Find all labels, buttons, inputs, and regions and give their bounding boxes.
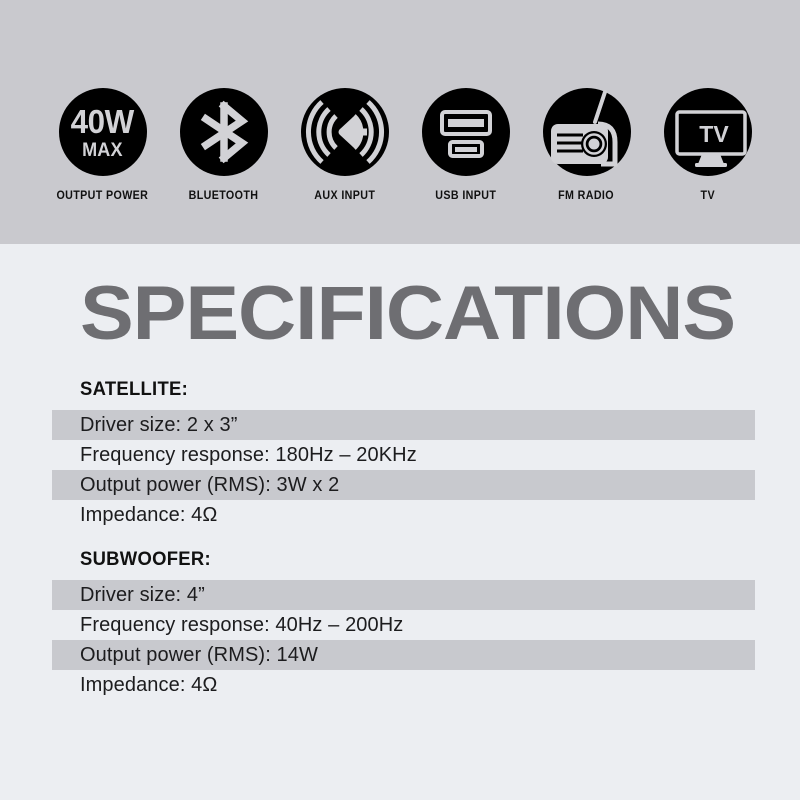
output-power-value: 40W bbox=[71, 105, 134, 138]
spec-row: Impedance: 4Ω bbox=[52, 500, 755, 530]
page-title: SPECIFICATIONS bbox=[80, 276, 735, 352]
feature-item-output-power[interactable]: 40W MAX OUTPUT POWER bbox=[42, 0, 163, 202]
feature-label-aux-input: AUX INPUT bbox=[314, 190, 375, 202]
feature-label-output-power: OUTPUT POWER bbox=[57, 190, 149, 202]
output-power-icon: 40W MAX bbox=[59, 88, 147, 176]
spec-row: Output power (RMS): 14W bbox=[52, 640, 755, 670]
feature-band: 40W MAX OUTPUT POWER BLUETOOTH bbox=[0, 0, 800, 244]
output-power-max-label: MAX bbox=[82, 141, 123, 160]
spec-rows-satellite: Driver size: 2 x 3” Frequency response: … bbox=[0, 410, 800, 530]
bluetooth-icon bbox=[180, 88, 268, 176]
spec-group-subwoofer: SUBWOOFER: Driver size: 4” Frequency res… bbox=[0, 549, 800, 700]
spec-group-satellite: SATELLITE: Driver size: 2 x 3” Frequency… bbox=[0, 379, 800, 530]
feature-item-bluetooth[interactable]: BLUETOOTH bbox=[163, 0, 284, 202]
feature-icon-strip: 40W MAX OUTPUT POWER BLUETOOTH bbox=[0, 0, 800, 244]
spec-group-heading-subwoofer: SUBWOOFER: bbox=[80, 549, 778, 571]
usb-input-icon bbox=[422, 88, 510, 176]
feature-label-usb-input: USB INPUT bbox=[435, 190, 496, 202]
tv-screen-text: TV bbox=[699, 121, 729, 147]
fm-radio-icon bbox=[543, 88, 631, 176]
feature-item-tv[interactable]: TV TV bbox=[647, 0, 768, 202]
feature-label-bluetooth: BLUETOOTH bbox=[189, 190, 259, 202]
spec-row: Impedance: 4Ω bbox=[52, 670, 755, 700]
spec-row: Output power (RMS): 3W x 2 bbox=[52, 470, 755, 500]
spec-row: Frequency response: 40Hz – 200Hz bbox=[52, 610, 755, 640]
feature-item-fm-radio[interactable]: FM RADIO bbox=[526, 0, 647, 202]
tv-icon: TV bbox=[664, 88, 752, 176]
feature-item-aux-input[interactable]: AUX INPUT bbox=[284, 0, 405, 202]
feature-item-usb-input[interactable]: USB INPUT bbox=[405, 0, 526, 202]
feature-label-fm-radio: FM RADIO bbox=[559, 190, 615, 202]
spec-rows-subwoofer: Driver size: 4” Frequency response: 40Hz… bbox=[0, 580, 800, 700]
spec-row: Driver size: 2 x 3” bbox=[52, 410, 755, 440]
spec-row: Frequency response: 180Hz – 20KHz bbox=[52, 440, 755, 470]
spec-row: Driver size: 4” bbox=[52, 580, 755, 610]
spec-group-heading-satellite: SATELLITE: bbox=[80, 379, 778, 401]
feature-label-tv: TV bbox=[700, 190, 714, 202]
aux-input-icon bbox=[301, 88, 389, 176]
specifications-panel: SPECIFICATIONS SATELLITE: Driver size: 2… bbox=[0, 244, 800, 800]
